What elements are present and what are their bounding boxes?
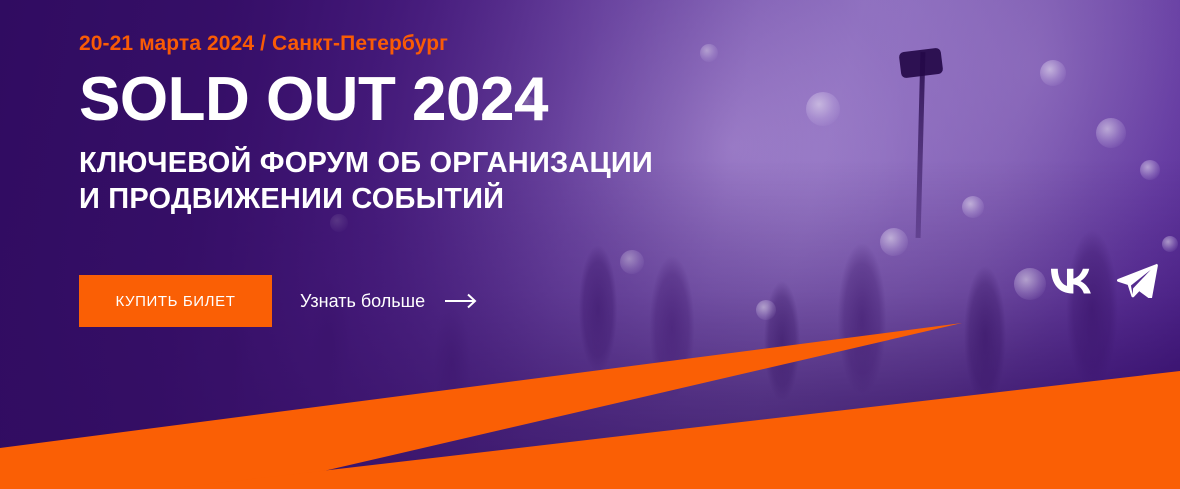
vk-icon [1048, 265, 1094, 300]
event-date-location: 20-21 марта 2024 / Санкт-Петербург [79, 32, 779, 56]
telegram-link[interactable] [1116, 262, 1158, 303]
telegram-icon [1116, 262, 1158, 303]
page-title: SOLD OUT 2024 [79, 68, 779, 132]
arrow-right-icon [445, 293, 479, 309]
learn-more-label: Узнать больше [300, 291, 425, 312]
buy-ticket-button[interactable]: КУПИТЬ БИЛЕТ [79, 275, 272, 327]
page-subtitle: КЛЮЧЕВОЙ ФОРУМ ОБ ОРГАНИЗАЦИИ И ПРОДВИЖЕ… [79, 146, 779, 217]
hero-banner: 20-21 марта 2024 / Санкт-Петербург SOLD … [0, 0, 1180, 489]
vk-link[interactable] [1048, 265, 1094, 300]
subtitle-line-1: КЛЮЧЕВОЙ ФОРУМ ОБ ОРГАНИЗАЦИИ [79, 146, 779, 181]
subtitle-line-2: И ПРОДВИЖЕНИИ СОБЫТИЙ [79, 182, 779, 217]
hero-actions: КУПИТЬ БИЛЕТ Узнать больше [79, 275, 479, 327]
hero-copy: 20-21 марта 2024 / Санкт-Петербург SOLD … [79, 32, 779, 217]
learn-more-link[interactable]: Узнать больше [300, 291, 479, 312]
social-links [1048, 262, 1158, 303]
